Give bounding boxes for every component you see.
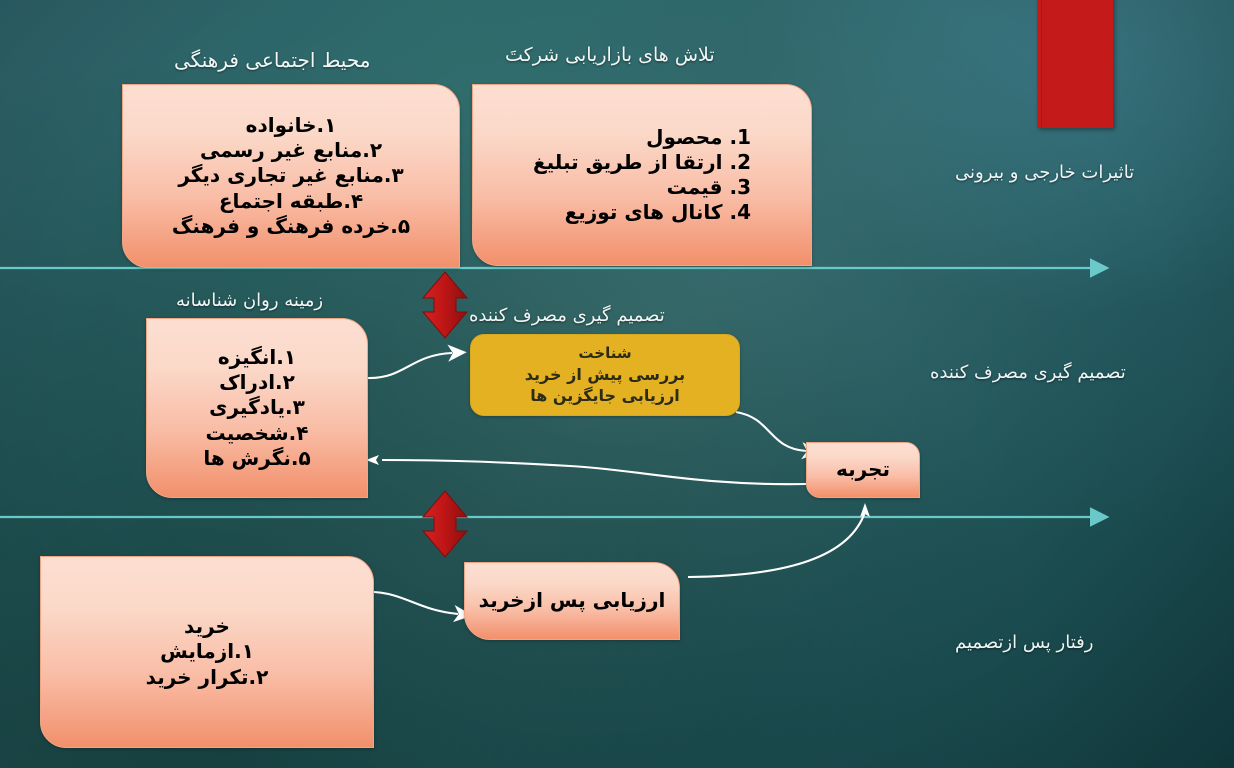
list-item: ارزیابی پس ازخرید [475, 588, 669, 613]
list-item: ارزیابی جایگزین ها [471, 385, 739, 406]
list-item: 4. کانال های توزیع [483, 200, 751, 225]
red-rectangle-marker [1037, 0, 1113, 128]
box-purchase[interactable]: خرید ۱.ازمایش ۲.تکرار خرید [40, 556, 374, 748]
caption-consumer-decision: تصمیم گیری مصرف کننده [469, 305, 665, 326]
caption-sociocultural: محیط اجتماعی فرهنگی [174, 48, 370, 72]
box-purchase-lines: خرید ۱.ازمایش ۲.تکرار خرید [41, 614, 373, 690]
list-item: ۲.ادراک [157, 370, 357, 395]
box-cognition[interactable]: شناخت بررسی پیش از خرید ارزیابی جایگزین … [470, 334, 740, 416]
caption-marketing: تلاش های بازاریابی شرکتَ [505, 44, 715, 66]
box-sociocultural-environment[interactable]: ۱.خانواده ۲.منابع غیر رسمی ۳.منابع غیر ت… [122, 84, 460, 268]
box-cognition-lines: شناخت بررسی پیش از خرید ارزیابی جایگزین … [471, 344, 739, 406]
list-item: 3. قیمت [483, 175, 751, 200]
list-item: ۳.یادگیری [157, 395, 357, 420]
box-experience-lines: تجربه [807, 457, 919, 482]
list-item: ۳.منابع غیر تجاری دیگر [133, 163, 449, 188]
box-experience[interactable]: تجربه [806, 442, 920, 498]
list-item: ۱.انگیزه [157, 345, 357, 370]
list-item: ۵.نگرش ها [157, 446, 357, 471]
list-item: تجربه [817, 457, 909, 482]
box-psychological-field[interactable]: ۱.انگیزه ۲.ادراک ۳.یادگیری ۴.شخصیت ۵.نگر… [146, 318, 368, 498]
box-post-purchase-lines: ارزیابی پس ازخرید [465, 588, 679, 613]
list-item: خرید [51, 614, 363, 639]
red-rectangle-seam [1041, 0, 1042, 128]
list-item: ۱.خانواده [133, 113, 449, 138]
box-sociocultural-lines: ۱.خانواده ۲.منابع غیر رسمی ۳.منابع غیر ت… [123, 113, 459, 239]
list-item: ۴.طبقه اجتماع [133, 189, 449, 214]
section-label-decision: تصمیم گیری مصرف کننده [930, 362, 1126, 383]
content-layer: تاثیرات خارجی و بیرونی تصمیم گیری مصرف ک… [0, 0, 1234, 768]
section-label-post: رفتار پس ازتصمیم [955, 632, 1093, 653]
list-item: ۲.منابع غیر رسمی [133, 138, 449, 163]
box-marketing-efforts[interactable]: 1. محصول 2. ارتقا از طریق تبلیغ 3. قیمت … [472, 84, 812, 266]
list-item: ۴.شخصیت [157, 421, 357, 446]
list-item: شناخت [471, 344, 739, 364]
list-item: 2. ارتقا از طریق تبلیغ [483, 150, 751, 175]
list-item: بررسی پیش از خرید [471, 364, 739, 385]
box-marketing-lines: 1. محصول 2. ارتقا از طریق تبلیغ 3. قیمت … [473, 125, 811, 226]
box-psychological-lines: ۱.انگیزه ۲.ادراک ۳.یادگیری ۴.شخصیت ۵.نگر… [147, 345, 367, 471]
slide-canvas: تاثیرات خارجی و بیرونی تصمیم گیری مصرف ک… [0, 0, 1234, 768]
list-item: ۵.خرده فرهنگ و فرهنگ [133, 214, 449, 239]
list-item: ۲.تکرار خرید [51, 665, 363, 690]
section-label-external: تاثیرات خارجی و بیرونی [955, 162, 1134, 183]
caption-psychological: زمینه روان شناسانه [176, 290, 323, 311]
box-post-purchase-evaluation[interactable]: ارزیابی پس ازخرید [464, 562, 680, 640]
list-item: 1. محصول [483, 125, 751, 150]
list-item: ۱.ازمایش [51, 639, 363, 664]
